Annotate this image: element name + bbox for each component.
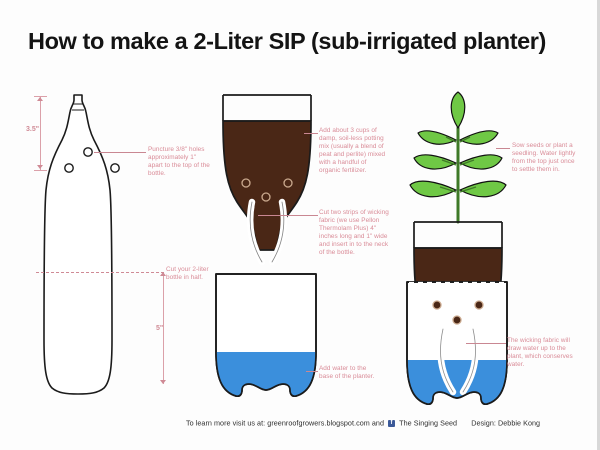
diagram-layer <box>0 0 600 450</box>
footer-site-link[interactable]: greenroofgrowers.blogspot.com <box>267 419 370 428</box>
drainage-hole <box>84 148 92 156</box>
callout-potting-mix: Add about 3 cups of damp, soil-less pott… <box>319 127 389 176</box>
bottle-top-walls-step2 <box>223 95 311 121</box>
bottle-outline-step1 <box>44 95 112 394</box>
footer-lead: To learn more visit us at: <box>186 419 265 428</box>
callout-wicking-fabric: Cut two strips of wicking fabric (we use… <box>319 209 393 258</box>
callout-leader-line <box>94 152 146 153</box>
dimension-label-5-inch: 5" <box>156 325 163 332</box>
callout-wick-action: The wicking fabric will draw water up to… <box>507 337 577 369</box>
drainage-hole <box>111 164 119 172</box>
callout-leader-line <box>258 215 318 216</box>
dimension-arrow-down <box>160 380 166 384</box>
footer-page-name[interactable]: The Singing Seed <box>399 419 457 428</box>
drainage-hole <box>453 316 461 324</box>
callout-leader-line <box>304 133 318 134</box>
footer-conjunction: and <box>372 419 384 428</box>
bottle-top-walls-step3 <box>414 222 502 248</box>
infographic-canvas: How to make a 2-Liter SIP (sub-irrigated… <box>0 0 600 450</box>
footer-credits: To learn more visit us at: greenroofgrow… <box>186 418 540 428</box>
facebook-icon[interactable]: f <box>388 420 395 427</box>
callout-cut-bottle: Cut your 2-liter bottle in half. <box>166 266 212 282</box>
drainage-hole <box>433 301 441 309</box>
dimension-line-upper <box>40 96 41 170</box>
drainage-hole <box>284 179 292 187</box>
dimension-label-3-5-inch: 3.5" <box>26 126 39 133</box>
water-fill-step3 <box>400 360 515 415</box>
callout-sow-seeds: Sow seeds or plant a seedling. Water lig… <box>512 142 578 174</box>
dimension-cap <box>34 170 47 171</box>
callout-leader-line <box>466 343 506 344</box>
callout-leader-line <box>496 148 510 149</box>
drainage-hole <box>475 301 483 309</box>
callout-add-water: Add water to the base of the planter. <box>319 365 381 381</box>
dimension-arrow-up <box>37 97 43 101</box>
callout-leader-line <box>306 371 318 372</box>
drainage-hole <box>262 193 270 201</box>
water-fill-step2 <box>210 352 325 402</box>
cut-guide-line <box>36 272 164 273</box>
drainage-hole <box>242 179 250 187</box>
footer-designer-credit: Design: Debbie Kong <box>471 419 540 428</box>
dimension-arrow-down <box>37 165 43 169</box>
drainage-hole <box>65 164 73 172</box>
soil-funnel-step2 <box>223 121 311 250</box>
callout-puncture-holes: Puncture 3/8" holes approximately 1" apa… <box>148 146 210 178</box>
